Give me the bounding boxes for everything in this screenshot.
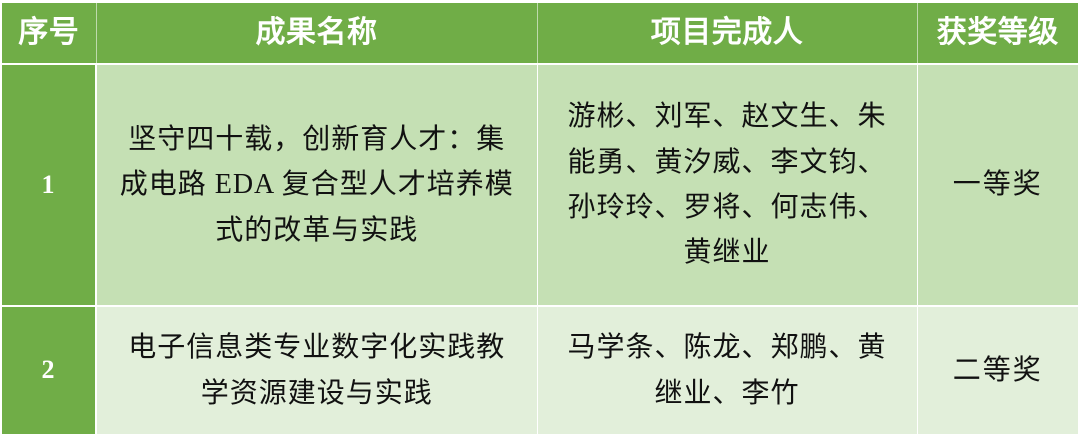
row-award-level: 二等奖 <box>917 306 1078 434</box>
column-header-award: 获奖等级 <box>917 3 1078 64</box>
award-table-sheet: 序号 成果名称 项目完成人 获奖等级 1 坚守四十载，创新育人才：集成电路 ED… <box>0 0 1080 434</box>
table-row: 2 电子信息类专业数字化实践教学资源建设与实践 马学条、陈龙、郑鹏、黄继业、李竹… <box>2 306 1078 434</box>
row-achievement-name: 电子信息类专业数字化实践教学资源建设与实践 <box>96 306 537 434</box>
table-row: 1 坚守四十载，创新育人才：集成电路 EDA 复合型人才培养模式的改革与实践 游… <box>2 64 1078 306</box>
column-header-seq: 序号 <box>2 3 96 64</box>
column-header-name: 成果名称 <box>96 3 537 64</box>
achievement-name-text: 电子信息类专业数字化实践教学资源建设与实践 <box>119 325 515 416</box>
project-members-text: 马学条、陈龙、郑鹏、黄继业、李竹 <box>556 325 899 416</box>
table-body: 1 坚守四十载，创新育人才：集成电路 EDA 复合型人才培养模式的改革与实践 游… <box>2 64 1078 434</box>
row-achievement-name: 坚守四十载，创新育人才：集成电路 EDA 复合型人才培养模式的改革与实践 <box>96 64 537 306</box>
header-row: 序号 成果名称 项目完成人 获奖等级 <box>2 3 1078 64</box>
row-sequence-number: 1 <box>2 64 96 306</box>
column-header-people: 项目完成人 <box>537 3 917 64</box>
row-project-members: 游彬、刘军、赵文生、朱能勇、黄汐威、李文钧、孙玲玲、罗将、何志伟、黄继业 <box>537 64 917 306</box>
table-header: 序号 成果名称 项目完成人 获奖等级 <box>2 3 1078 64</box>
row-award-level: 一等奖 <box>917 64 1078 306</box>
project-members-text: 游彬、刘军、赵文生、朱能勇、黄汐威、李文钧、孙玲玲、罗将、何志伟、黄继业 <box>556 94 899 275</box>
row-project-members: 马学条、陈龙、郑鹏、黄继业、李竹 <box>537 306 917 434</box>
row-sequence-number: 2 <box>2 306 96 434</box>
achievement-name-text: 坚守四十载，创新育人才：集成电路 EDA 复合型人才培养模式的改革与实践 <box>119 117 515 253</box>
achievement-award-table: 序号 成果名称 项目完成人 获奖等级 1 坚守四十载，创新育人才：集成电路 ED… <box>2 3 1078 434</box>
